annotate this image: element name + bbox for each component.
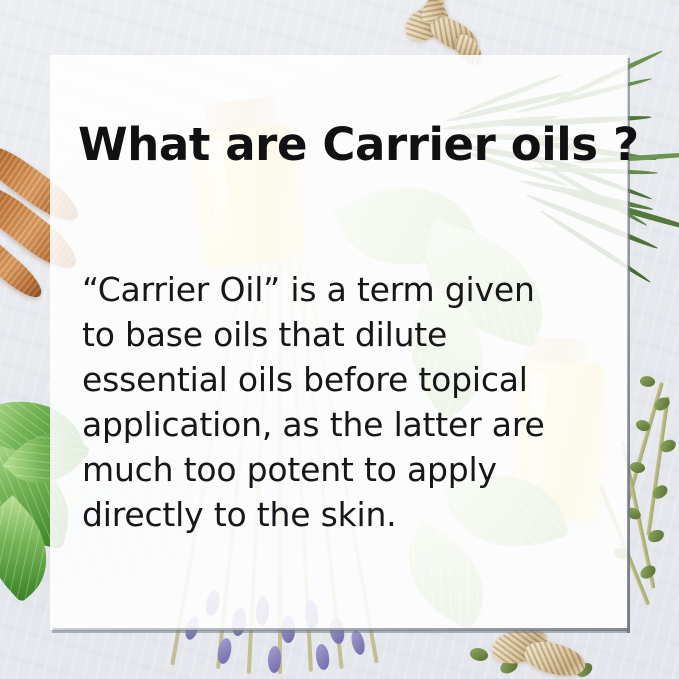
body-line: to base oils that dilute [82, 312, 612, 357]
page-title: What are Carrier oils ? [78, 118, 639, 171]
body-line: “Carrier Oil” is a term given [82, 267, 612, 312]
body-line: directly to the skin. [82, 492, 612, 537]
infographic-canvas: What are Carrier oils ? “Carrier Oil” is… [0, 0, 679, 679]
body-line: application, as the latter are [82, 402, 612, 447]
body-line: much too potent to apply [82, 447, 612, 492]
card-text: What are Carrier oils ? “Carrier Oil” is… [50, 55, 628, 630]
body-line: essential oils before topical [82, 357, 612, 402]
body-paragraph: “Carrier Oil” is a term given to base oi… [82, 267, 612, 537]
